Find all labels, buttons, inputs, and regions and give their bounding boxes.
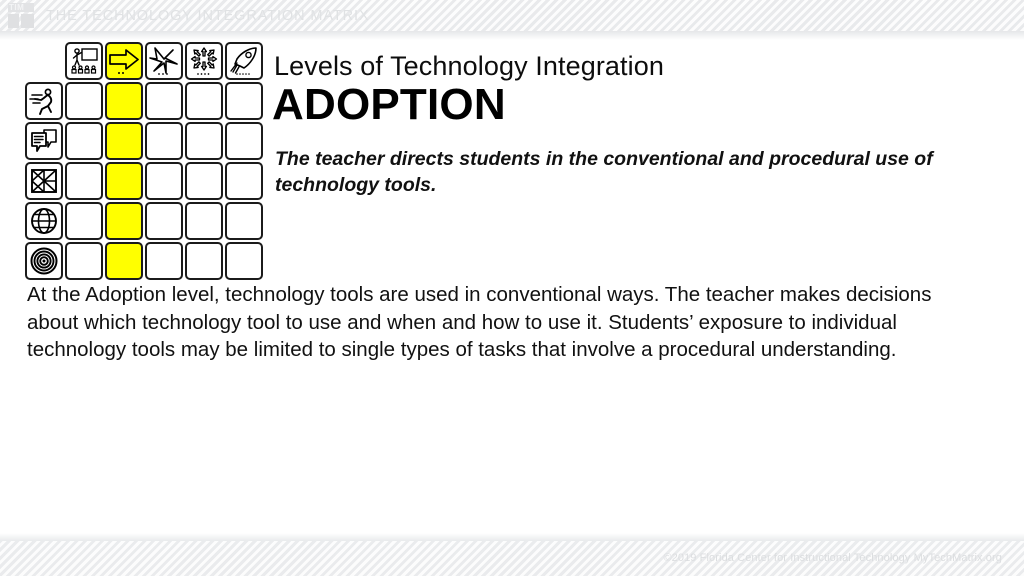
matrix-row-collaborative — [24, 121, 264, 161]
matrix-row-header-authentic[interactable] — [25, 202, 63, 240]
teacher-at-whiteboard-icon — [69, 46, 99, 76]
matrix-cell-collaborative-infusion[interactable] — [185, 122, 223, 160]
matrix-cell-active-entry[interactable] — [65, 82, 103, 120]
matrix-row-header-active[interactable] — [25, 82, 63, 120]
documents-speech-icon — [29, 126, 59, 156]
matrix-cell-authentic-transformation[interactable] — [225, 202, 263, 240]
matrix-col-header-adoption[interactable] — [105, 42, 143, 80]
tim-logo-icon: TIM — [8, 3, 36, 29]
matrix-row-header-constructive[interactable] — [25, 162, 63, 200]
matrix-cell-constructive-infusion[interactable] — [185, 162, 223, 200]
matrix-cell-active-adaptation[interactable] — [145, 82, 183, 120]
matrix-cell-collaborative-adaptation[interactable] — [145, 122, 183, 160]
matrix-cell-goal-directed-adoption[interactable] — [105, 242, 143, 280]
technology-integration-matrix — [24, 41, 264, 281]
matrix-row-authentic — [24, 201, 264, 241]
matrix-cell-goal-directed-infusion[interactable] — [185, 242, 223, 280]
header-divider — [0, 31, 1024, 40]
matrix-row-constructive — [24, 161, 264, 201]
page-title: ADOPTION — [272, 80, 506, 130]
matrix-header-row — [24, 41, 264, 81]
matrix-cell-constructive-entry[interactable] — [65, 162, 103, 200]
bullseye-target-icon — [29, 246, 59, 276]
matrix-cell-active-transformation[interactable] — [225, 82, 263, 120]
matrix-cell-authentic-adoption[interactable] — [105, 202, 143, 240]
footer-credit: ©2019 Florida Center for Instructional T… — [663, 552, 1002, 564]
globe-icon — [29, 206, 59, 236]
matrix-col-header-transformation[interactable] — [225, 42, 263, 80]
footer-divider — [0, 533, 1024, 541]
matrix-cell-collaborative-adoption[interactable] — [105, 122, 143, 160]
level-definition: The teacher directs students in the conv… — [275, 146, 997, 198]
matrix-row-active — [24, 81, 264, 121]
running-person-icon — [29, 86, 59, 116]
matrix-col-header-entry[interactable] — [65, 42, 103, 80]
slide-canvas: TIM THE TECHNOLOGY INTEGRATION MATRIX — [0, 0, 1024, 576]
matrix-cell-authentic-adaptation[interactable] — [145, 202, 183, 240]
levels-eyebrow: Levels of Technology Integration — [274, 50, 664, 82]
matrix-cell-authentic-infusion[interactable] — [185, 202, 223, 240]
matrix-cell-constructive-adoption[interactable] — [105, 162, 143, 200]
pinwheel-icon — [149, 46, 179, 76]
matrix-cell-goal-directed-transformation[interactable] — [225, 242, 263, 280]
matrix-corner-cell — [25, 42, 63, 80]
matrix-row-goal-directed — [24, 241, 264, 281]
tim-logo-text: TIM — [9, 3, 24, 12]
body-paragraph: At the Adoption level, technology tools … — [27, 281, 957, 364]
lattice-grid-icon — [29, 166, 59, 196]
matrix-cell-constructive-adaptation[interactable] — [145, 162, 183, 200]
radiating-arrows-icon — [189, 46, 219, 76]
matrix-row-header-collaborative[interactable] — [25, 122, 63, 160]
matrix-cell-goal-directed-adaptation[interactable] — [145, 242, 183, 280]
matrix-col-header-adaptation[interactable] — [145, 42, 183, 80]
matrix-col-header-infusion[interactable] — [185, 42, 223, 80]
matrix-cell-collaborative-transformation[interactable] — [225, 122, 263, 160]
matrix-cell-constructive-transformation[interactable] — [225, 162, 263, 200]
matrix-cell-collaborative-entry[interactable] — [65, 122, 103, 160]
matrix-cell-active-adoption[interactable] — [105, 82, 143, 120]
matrix-cell-goal-directed-entry[interactable] — [65, 242, 103, 280]
rocket-icon — [229, 46, 259, 76]
header-bar: TIM THE TECHNOLOGY INTEGRATION MATRIX — [0, 0, 1024, 31]
matrix-row-header-goal-directed[interactable] — [25, 242, 63, 280]
matrix-cell-active-infusion[interactable] — [185, 82, 223, 120]
matrix-cell-authentic-entry[interactable] — [65, 202, 103, 240]
right-arrow-icon — [108, 46, 140, 76]
header-title: THE TECHNOLOGY INTEGRATION MATRIX — [46, 8, 370, 24]
